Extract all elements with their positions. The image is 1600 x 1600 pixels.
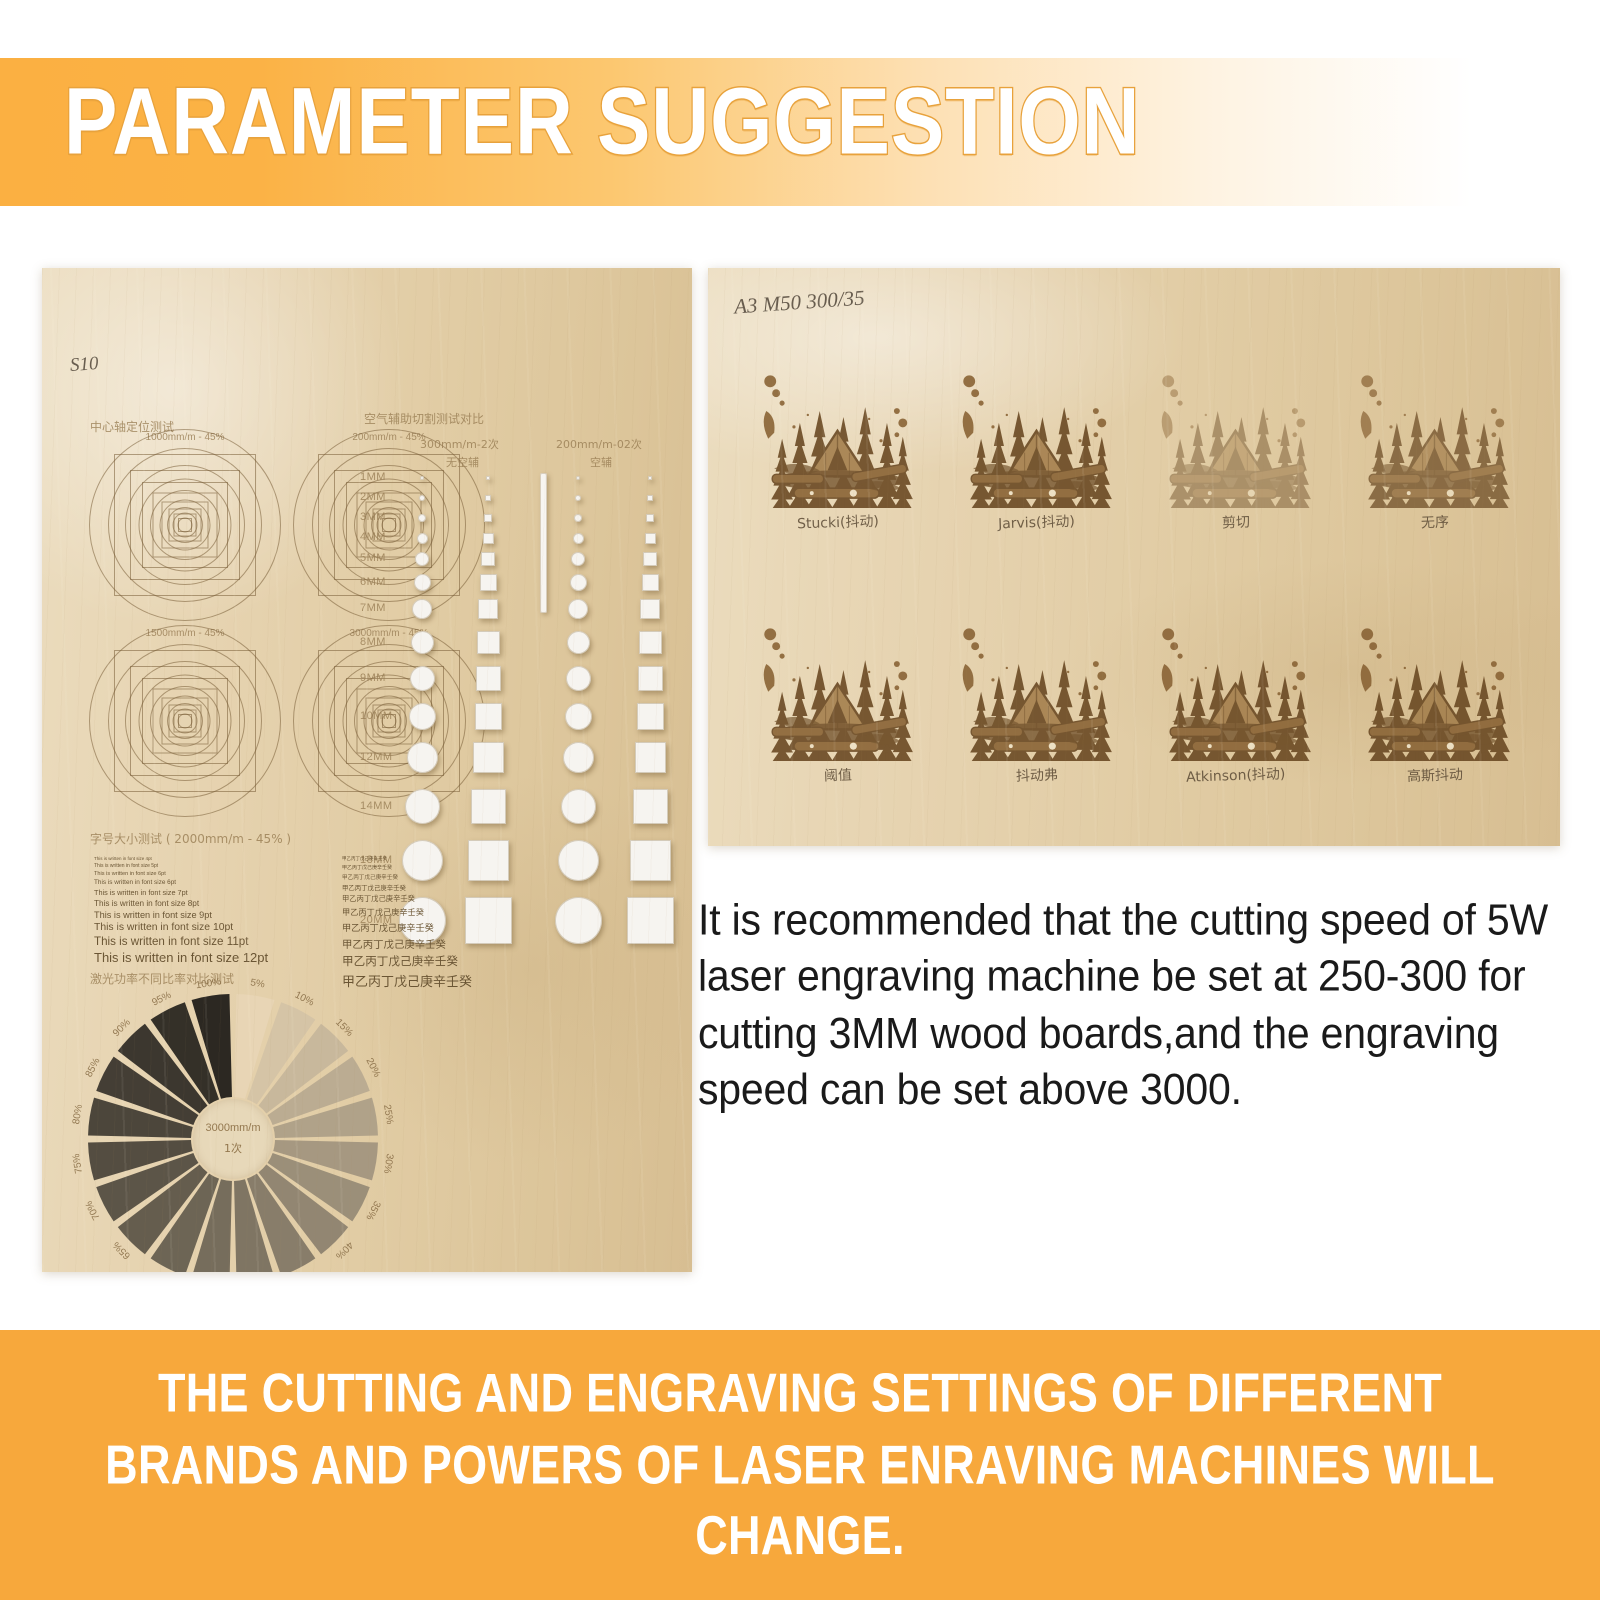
cut-circle-sample xyxy=(409,703,436,730)
font-test-line: This is written in font size 6pt xyxy=(94,879,344,886)
cut-square-sample xyxy=(640,599,660,619)
cut-square-sample xyxy=(637,703,664,730)
cut-row-label: 6MM xyxy=(360,576,386,588)
camping-scene-engraving xyxy=(943,573,1130,761)
cut-col-header-1: 200mm/m-02次 xyxy=(556,436,642,452)
camping-scene-engraving xyxy=(1142,320,1329,508)
engraving-sample-caption: Stucki(抖动) xyxy=(796,511,879,534)
cut-circle-sample xyxy=(417,533,428,544)
cut-row-label: 2MM xyxy=(360,491,386,503)
engraving-sample: 抖动弗 xyxy=(943,573,1130,820)
cut-row-label: 9MM xyxy=(360,672,386,684)
cut-row-label: 12MM xyxy=(360,751,393,763)
recommendation-paragraph: It is recommended that the cutting speed… xyxy=(698,892,1564,1118)
engraving-sample: 无序 xyxy=(1341,320,1528,567)
cut-square-sample xyxy=(635,742,666,773)
engraving-sample: Stucki(抖动) xyxy=(744,320,931,567)
font-test-line: This is written in font size 11pt xyxy=(94,935,344,948)
camping-scene-engraving xyxy=(1142,573,1329,761)
power-wheel-label: 5% xyxy=(250,977,266,990)
cut-col-header-0: 300mm/m-2次 xyxy=(420,436,499,452)
cut-square-sample xyxy=(646,514,654,522)
camping-scene-engraving xyxy=(943,320,1130,508)
camping-scene-engraving xyxy=(744,320,931,508)
cut-square-sample xyxy=(486,476,490,480)
font-test-line-cn: 甲乙丙丁戊己庚辛壬癸 xyxy=(342,864,542,871)
engraving-sample: 剪切 xyxy=(1142,320,1329,567)
cut-circle-sample xyxy=(420,476,424,480)
camping-scene-engraving xyxy=(1341,573,1528,761)
font-test-line-cn: 甲乙丙丁戊己庚辛壬癸 xyxy=(342,873,542,881)
engraving-sample-caption: 抖动弗 xyxy=(1015,764,1058,785)
cut-square-sample xyxy=(475,703,502,730)
cut-row-label: 4MM xyxy=(360,531,386,543)
font-test-english-column: This is written in font size 4ptThis is … xyxy=(94,856,344,967)
cut-circle-sample xyxy=(415,552,429,566)
cut-square-sample xyxy=(642,574,659,591)
engraving-sample-caption: 阈值 xyxy=(823,765,852,786)
handwritten-note-right: A3 M50 300/35 xyxy=(733,285,865,319)
cut-circle-sample xyxy=(576,476,580,480)
engraving-sample: Jarvis(抖动) xyxy=(943,320,1130,567)
header-banner: PARAMETER SUGGESTION xyxy=(0,58,1600,206)
content-stage: S10 中心轴定位测试 1000mm/m - 45% 200mm/m - 45%… xyxy=(0,206,1600,1314)
engraving-sample: 阈值 xyxy=(744,573,931,820)
cut-square-sample xyxy=(483,533,494,544)
cut-square-sample xyxy=(481,552,495,566)
wheel-hub: 3000mm/m 1次 xyxy=(193,1099,273,1179)
page-title: PARAMETER SUGGESTION xyxy=(64,67,1140,176)
cut-square-sample xyxy=(648,476,652,480)
cut-square-sample xyxy=(477,631,500,654)
cut-row-label: 14MM xyxy=(360,800,393,812)
target-pattern-2: 1500mm/m - 45% xyxy=(90,626,280,816)
cut-circle-sample xyxy=(561,789,596,824)
cut-circle-sample xyxy=(574,514,582,522)
cut-square-sample xyxy=(471,789,506,824)
power-wheel-label: 75% xyxy=(71,1153,85,1174)
cut-circle-sample xyxy=(411,631,434,654)
font-test-line: This is written in font size 4pt xyxy=(94,856,344,861)
cut-row-label: 3MM xyxy=(360,511,386,523)
cut-row-label: 8MM xyxy=(360,636,386,648)
cut-circle-sample xyxy=(419,495,425,501)
cut-circle-sample xyxy=(575,495,581,501)
cut-circle-sample xyxy=(418,514,426,522)
footer-text: THE CUTTING AND ENGRAVING SETTINGS OF DI… xyxy=(85,1358,1515,1572)
engraving-sample-caption: 无序 xyxy=(1420,512,1449,533)
font-test-line: This is written in font size 10pt xyxy=(94,922,344,933)
cut-circle-sample xyxy=(565,703,592,730)
cut-square-sample xyxy=(473,742,504,773)
cut-row-label: 7MM xyxy=(360,602,386,614)
engraving-sample-caption: 高斯抖动 xyxy=(1406,764,1463,786)
cut-square-sample xyxy=(639,631,662,654)
cut-square-sample xyxy=(633,789,668,824)
font-test-title: 字号大小测试 ( 2000mm/m - 45% ) xyxy=(90,830,291,847)
cut-circle-sample xyxy=(568,599,588,619)
power-wheel-label: 30% xyxy=(381,1153,395,1174)
camping-scene-engraving xyxy=(1341,320,1528,508)
cut-circle-sample xyxy=(407,742,438,773)
cut-circle-sample xyxy=(405,789,440,824)
cut-square-sample xyxy=(476,666,501,691)
engraving-sample-grid: Stucki(抖动) xyxy=(744,320,1528,820)
cut-square-sample xyxy=(647,495,653,501)
cut-square-sample xyxy=(645,533,656,544)
footer-banner: THE CUTTING AND ENGRAVING SETTINGS OF DI… xyxy=(0,1330,1600,1600)
cut-circle-sample xyxy=(567,631,590,654)
target-square xyxy=(178,518,192,532)
cut-circle-sample xyxy=(414,574,431,591)
cut-circle-sample xyxy=(555,897,602,944)
cut-row-label: 5MM xyxy=(360,552,386,564)
engraving-sample: 高斯抖动 xyxy=(1341,573,1528,820)
font-test-line-cn: 甲乙丙丁戊己庚辛壬癸 xyxy=(342,856,542,862)
font-test-line-cn: 甲乙丙丁戊己庚辛壬癸 xyxy=(342,971,542,990)
cut-square-sample xyxy=(484,514,492,522)
wheel-hub-pass: 1次 xyxy=(224,1140,242,1156)
engraving-sample: Atkinson(抖动) xyxy=(1142,573,1329,820)
cut-circle-sample xyxy=(412,599,432,619)
wheel-hub-speed: 3000mm/m xyxy=(205,1122,260,1134)
cut-circle-sample xyxy=(563,742,594,773)
cut-circle-sample xyxy=(566,666,591,691)
font-test-line: This is written in font size 5pt xyxy=(94,863,344,869)
power-wheel-label: 25% xyxy=(381,1104,395,1125)
target-pattern-0: 1000mm/m - 45% xyxy=(90,430,280,620)
cut-square-sample xyxy=(630,840,671,881)
cut-circle-sample xyxy=(573,533,584,544)
font-test-line: This is written in font size 12pt xyxy=(94,950,344,965)
cut-square-sample xyxy=(478,599,498,619)
cut-test-section-title: 空气辅助切割测试对比 xyxy=(364,410,484,427)
cut-circle-sample xyxy=(558,840,599,881)
camping-scene-engraving xyxy=(744,573,931,761)
font-test-line-cn: 甲乙丙丁戊己庚辛壬癸 xyxy=(342,894,542,904)
cut-test-matrix: 1MM2MM3MM4MM5MM6MM7MM8MM9MM10MM12MM14MM1… xyxy=(360,464,680,924)
cut-circle-sample xyxy=(570,574,587,591)
font-test-line-cn: 甲乙丙丁戊己庚辛壬癸 xyxy=(342,920,542,934)
engraving-sample-caption: Jarvis(抖动) xyxy=(998,511,1076,534)
font-test-line-cn: 甲乙丙丁戊己庚辛壬癸 xyxy=(342,953,542,969)
cut-square-sample xyxy=(485,495,491,501)
cut-row-label: 10MM xyxy=(360,710,393,722)
cut-circle-sample xyxy=(571,552,585,566)
cut-square-sample xyxy=(480,574,497,591)
power-ratio-wheel: 3000mm/m 1次 5%10%15%20%25%30%35%40%45%50… xyxy=(88,994,378,1272)
engraving-sample-caption: Atkinson(抖动) xyxy=(1185,763,1285,786)
font-test-line-cn: 甲乙丙丁戊己庚辛壬癸 xyxy=(342,883,542,892)
left-test-board-photo: S10 中心轴定位测试 1000mm/m - 45% 200mm/m - 45%… xyxy=(42,268,692,1272)
power-wheel-label: 80% xyxy=(71,1104,85,1125)
font-test-line: This is written in font size 8pt xyxy=(94,899,344,908)
font-test-line: This is written in font size 7pt xyxy=(94,888,344,897)
engraving-sample-caption: 剪切 xyxy=(1221,512,1250,533)
target-square xyxy=(178,714,192,728)
cut-square-sample xyxy=(627,897,674,944)
power-wheel-label: 100% xyxy=(195,977,222,992)
handwritten-note-left: S10 xyxy=(69,353,99,377)
font-test-chinese-column: 甲乙丙丁戊己庚辛壬癸甲乙丙丁戊己庚辛壬癸甲乙丙丁戊己庚辛壬癸甲乙丙丁戊己庚辛壬癸… xyxy=(342,856,542,992)
right-engraving-board-photo: A3 M50 300/35 xyxy=(708,268,1560,846)
cut-square-sample xyxy=(643,552,657,566)
font-test-line: This is written in font size 9pt xyxy=(94,910,344,920)
font-test-line-cn: 甲乙丙丁戊己庚辛壬癸 xyxy=(342,906,542,918)
font-test-line: This is written in font size 6pt xyxy=(94,871,344,877)
cut-row-label: 1MM xyxy=(360,471,386,483)
cut-square-sample xyxy=(638,666,663,691)
font-test-line-cn: 甲乙丙丁戊己庚辛壬癸 xyxy=(342,936,542,951)
cut-circle-sample xyxy=(410,666,435,691)
